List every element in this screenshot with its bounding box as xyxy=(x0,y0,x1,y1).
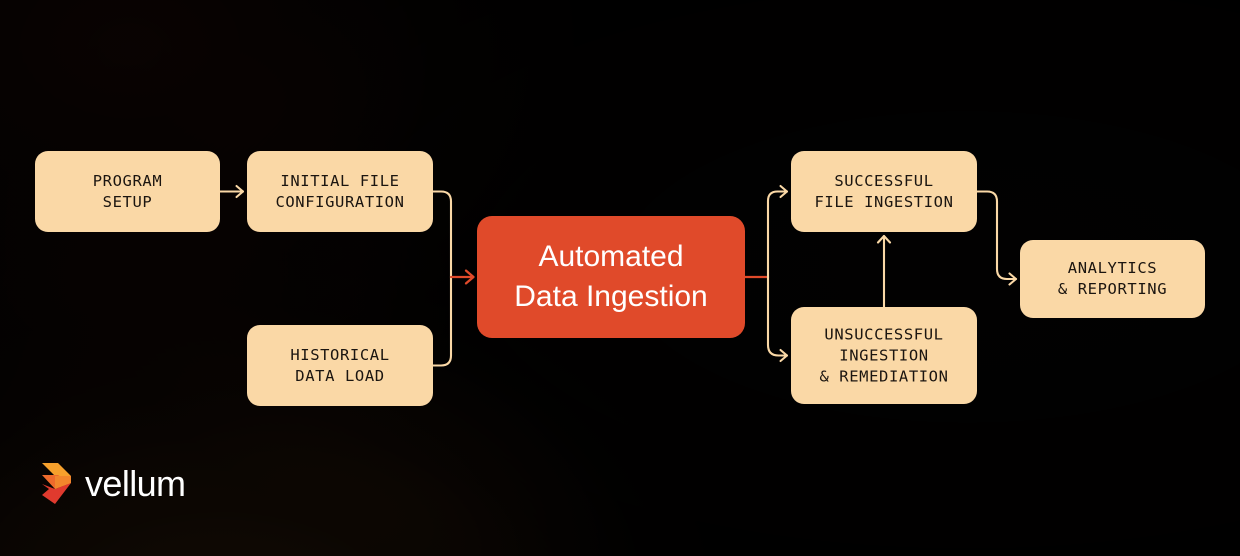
node-automated-data-ingestion-shape xyxy=(477,216,745,338)
flow-diagram: PROGRAM SETUP INITIAL FILE CONFIGURATION… xyxy=(0,0,1240,556)
vellum-chevron-mark-icon xyxy=(40,462,74,506)
node-initial-file-configuration-line-1: INITIAL FILE xyxy=(280,172,399,190)
node-analytics-reporting-line-1: ANALYTICS xyxy=(1068,259,1157,277)
node-program-setup-line-1: PROGRAM xyxy=(93,172,163,190)
node-unsuccessful-ingestion-remediation[interactable]: UNSUCCESSFUL INGESTION & REMEDIATION xyxy=(791,307,977,404)
node-automated-data-ingestion-line-1: Automated xyxy=(538,240,683,273)
diagram-canvas: PROGRAM SETUP INITIAL FILE CONFIGURATION… xyxy=(0,0,1240,556)
connector-ingestion-to-unsuccessful xyxy=(768,277,787,361)
node-analytics-reporting[interactable]: ANALYTICS & REPORTING xyxy=(1020,240,1205,318)
vellum-wordmark: vellum xyxy=(85,466,185,502)
node-initial-file-configuration[interactable]: INITIAL FILE CONFIGURATION xyxy=(247,151,433,232)
node-historical-data-load-line-2: DATA LOAD xyxy=(295,367,384,385)
node-unsuccessful-ingestion-remediation-line-3: & REMEDIATION xyxy=(819,368,948,386)
connector-ingestion-to-successful xyxy=(768,186,787,277)
node-successful-file-ingestion[interactable]: SUCCESSFUL FILE INGESTION xyxy=(791,151,977,232)
connector-merge-to-ingestion-arrow xyxy=(451,271,474,284)
node-automated-data-ingestion[interactable]: Automated Data Ingestion xyxy=(477,216,745,338)
node-program-setup-shape xyxy=(35,151,220,232)
vellum-logo: vellum xyxy=(40,462,185,506)
connector-unsuccessful-to-successful xyxy=(878,236,890,307)
connector-setup-to-config xyxy=(220,186,243,197)
connector-historical-to-ingestion xyxy=(433,277,451,366)
node-unsuccessful-ingestion-remediation-line-1: UNSUCCESSFUL xyxy=(824,326,943,344)
node-automated-data-ingestion-line-2: Data Ingestion xyxy=(514,280,707,313)
node-analytics-reporting-shape xyxy=(1020,240,1205,318)
node-successful-file-ingestion-line-1: SUCCESSFUL xyxy=(834,172,933,190)
node-successful-file-ingestion-line-2: FILE INGESTION xyxy=(814,193,953,211)
connector-config-to-ingestion xyxy=(433,192,451,278)
node-initial-file-configuration-shape xyxy=(247,151,433,232)
node-program-setup[interactable]: PROGRAM SETUP xyxy=(35,151,220,232)
node-analytics-reporting-line-2: & REPORTING xyxy=(1058,280,1167,298)
node-historical-data-load-line-1: HISTORICAL xyxy=(290,346,389,364)
node-historical-data-load-shape xyxy=(247,325,433,406)
node-program-setup-line-2: SETUP xyxy=(103,193,153,211)
node-unsuccessful-ingestion-remediation-line-2: INGESTION xyxy=(839,347,928,365)
connector-successful-to-analytics xyxy=(977,192,1016,285)
node-initial-file-configuration-line-2: CONFIGURATION xyxy=(275,193,404,211)
node-historical-data-load[interactable]: HISTORICAL DATA LOAD xyxy=(247,325,433,406)
node-successful-file-ingestion-shape xyxy=(791,151,977,232)
